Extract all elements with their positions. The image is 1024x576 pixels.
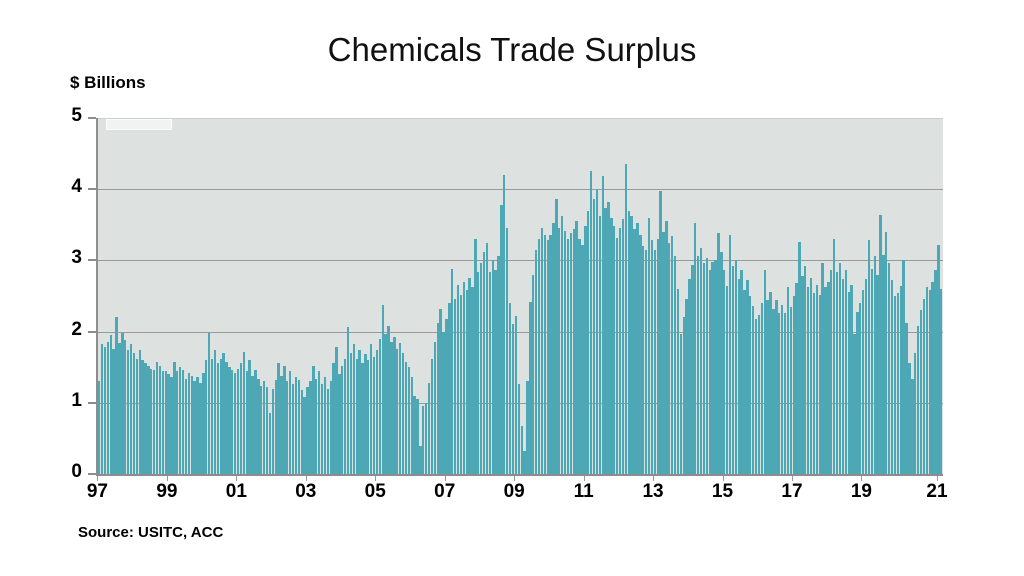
x-tick-label-17: 17 — [767, 481, 817, 503]
x-tick-label-21: 21 — [912, 481, 962, 503]
x-tick-mark-11 — [584, 476, 585, 481]
x-tick-mark-09 — [514, 476, 515, 481]
bars-layer — [98, 118, 943, 474]
x-tick-label-15: 15 — [698, 481, 748, 503]
chart-title: Chemicals Trade Surplus — [0, 31, 1024, 69]
plot-inner — [98, 118, 943, 474]
y-tick-label-5: 5 — [52, 105, 82, 127]
x-tick-label-07: 07 — [420, 481, 470, 503]
x-tick-label-01: 01 — [211, 481, 261, 503]
y-tick-mark-4 — [88, 188, 96, 190]
x-tick-mark-97 — [97, 476, 98, 481]
y-tick-mark-1 — [88, 402, 96, 404]
y-tick-mark-5 — [88, 117, 96, 119]
x-tick-label-03: 03 — [281, 481, 331, 503]
y-tick-mark-2 — [88, 331, 96, 333]
y-axis-unit-label: $ Billions — [70, 73, 146, 93]
y-tick-mark-3 — [88, 259, 96, 261]
bar — [940, 289, 942, 474]
x-tick-mark-13 — [653, 476, 654, 481]
x-tick-label-13: 13 — [628, 481, 678, 503]
x-tick-mark-21 — [937, 476, 938, 481]
x-tick-label-99: 99 — [142, 481, 192, 503]
chart-figure: Chemicals Trade Surplus $ Billions 01234… — [0, 0, 1024, 576]
x-tick-mark-07 — [445, 476, 446, 481]
x-tick-label-09: 09 — [489, 481, 539, 503]
x-axis-line — [96, 474, 943, 476]
x-tick-label-11: 11 — [559, 481, 609, 503]
x-tick-mark-05 — [375, 476, 376, 481]
x-tick-mark-03 — [306, 476, 307, 481]
x-tick-mark-99 — [167, 476, 168, 481]
y-tick-label-0: 0 — [52, 461, 82, 483]
x-tick-mark-17 — [792, 476, 793, 481]
x-tick-label-05: 05 — [350, 481, 400, 503]
x-tick-mark-15 — [723, 476, 724, 481]
y-tick-mark-0 — [88, 473, 96, 475]
source-note: Source: USITC, ACC — [78, 524, 223, 541]
y-tick-label-2: 2 — [52, 319, 82, 341]
y-tick-label-4: 4 — [52, 176, 82, 198]
x-tick-label-97: 97 — [72, 481, 122, 503]
x-tick-mark-01 — [236, 476, 237, 481]
plot-area — [96, 118, 943, 474]
x-tick-mark-19 — [861, 476, 862, 481]
y-tick-label-3: 3 — [52, 247, 82, 269]
y-tick-label-1: 1 — [52, 390, 82, 412]
x-tick-label-19: 19 — [836, 481, 886, 503]
